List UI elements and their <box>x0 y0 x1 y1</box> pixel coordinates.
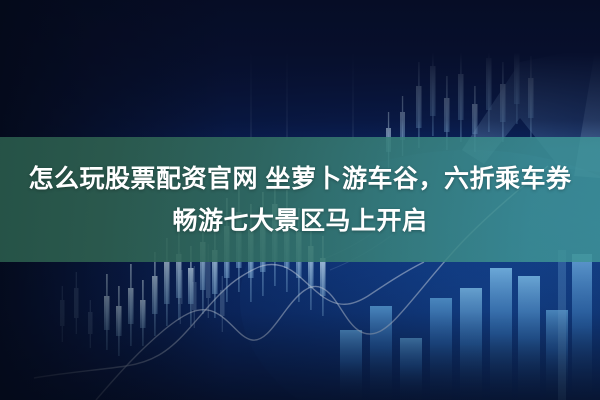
headline-line-2: 畅游七大景区马上开启 <box>172 200 427 242</box>
headline-band: 怎么玩股票配资官网 坐萝卜游车谷，六折乘车券 畅游七大景区马上开启 <box>0 137 600 262</box>
headline-line-1: 怎么玩股票配资官网 坐萝卜游车谷，六折乘车券 <box>29 158 572 200</box>
banner-image: 怎么玩股票配资官网 坐萝卜游车谷，六折乘车券 畅游七大景区马上开启 <box>0 0 600 400</box>
